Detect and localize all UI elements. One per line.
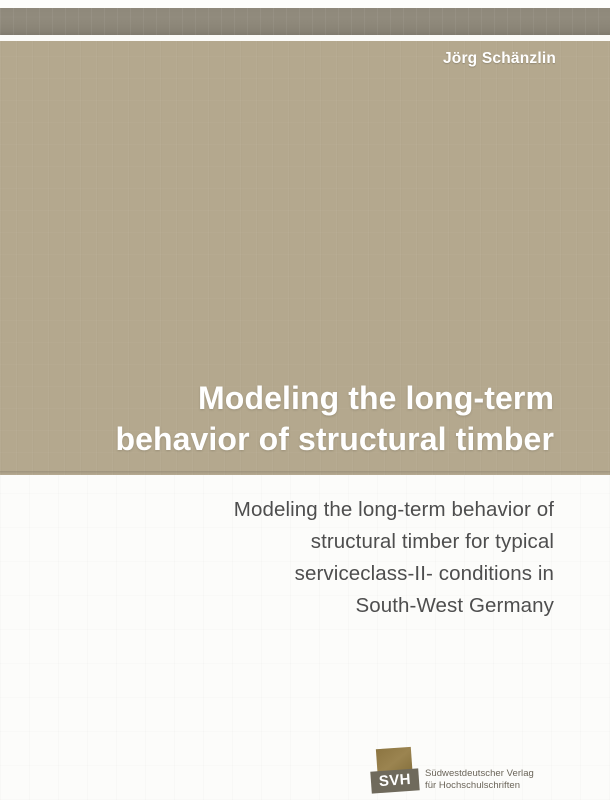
publisher-logo: SVH Südwestdeutscher Verlag für Hochschu… (371, 747, 571, 797)
book-subtitle-line-2: structural timber for typical (84, 526, 554, 558)
book-title: Modeling the long-term behavior of struc… (54, 378, 554, 460)
book-subtitle-line-4: South-West Germany (84, 590, 554, 622)
publisher-name-line-1: Südwestdeutscher Verlag (425, 768, 534, 780)
book-subtitle: Modeling the long-term behavior of struc… (84, 494, 554, 622)
book-title-line-2: behavior of structural timber (54, 419, 554, 460)
publisher-name-line-2: für Hochschulschriften (425, 780, 534, 792)
book-title-line-1: Modeling the long-term (54, 378, 554, 419)
publisher-logo-mark: SVH (371, 747, 421, 797)
header-band (0, 8, 610, 35)
author-name: Jörg Schänzlin (443, 50, 556, 68)
top-white-margin (0, 0, 610, 8)
book-cover: Jörg Schänzlin Modeling the long-term be… (0, 0, 610, 800)
book-subtitle-line-1: Modeling the long-term behavior of (84, 494, 554, 526)
book-subtitle-line-3: serviceclass-II- conditions in (84, 558, 554, 590)
publisher-name: Südwestdeutscher Verlag für Hochschulsch… (425, 768, 534, 791)
publisher-logo-initials: SVH (370, 768, 419, 793)
